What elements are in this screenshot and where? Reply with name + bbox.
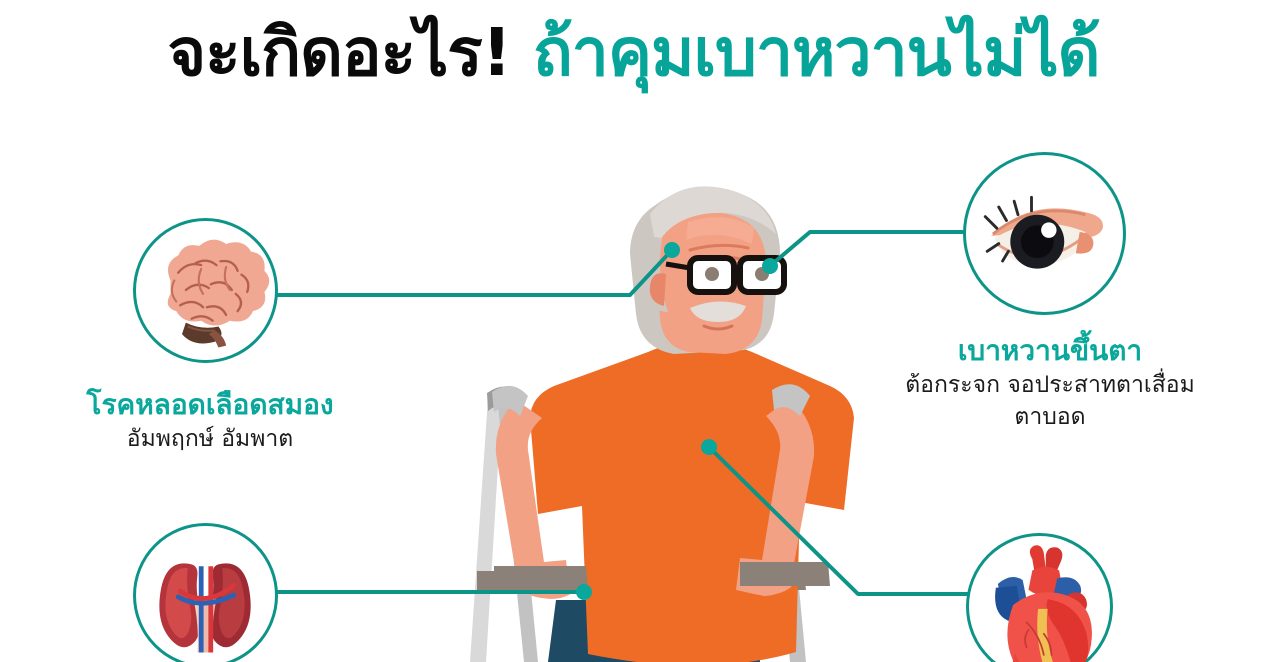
head-group [630,186,784,354]
label-block-brain: โรคหลอดเลือดสมอง อัมพฤกษ์ อัมพาต [10,386,410,456]
heart-icon [969,536,1110,662]
label-eye-subtitle-line1: ต้อกระจก จอประสาทตาเสื่อม [845,370,1255,402]
label-eye-title: เบาหวานขึ้นตา [845,332,1255,370]
icon-circle-eye[interactable] [963,152,1126,315]
crutch-handle-right [740,562,830,586]
brain-icon [136,221,275,360]
crutch-handle-left [494,566,588,590]
label-brain-subtitle: อัมพฤกษ์ อัมพาต [10,424,410,456]
label-brain-title: โรคหลอดเลือดสมอง [10,386,410,424]
icon-circle-kidney[interactable] [133,523,278,662]
icon-circle-brain[interactable] [133,218,278,363]
eye-icon [966,155,1123,312]
label-block-eye: เบาหวานขึ้นตา ต้อกระจก จอประสาทตาเสื่อม … [845,332,1255,433]
label-eye-subtitle-line2: ตาบอด [845,402,1255,434]
kidneys-icon [136,526,275,662]
icon-circle-heart[interactable] [966,533,1113,662]
infographic-canvas: จะเกิดอะไร! ถ้าคุมเบาหวานไม่ได้ [0,0,1267,662]
